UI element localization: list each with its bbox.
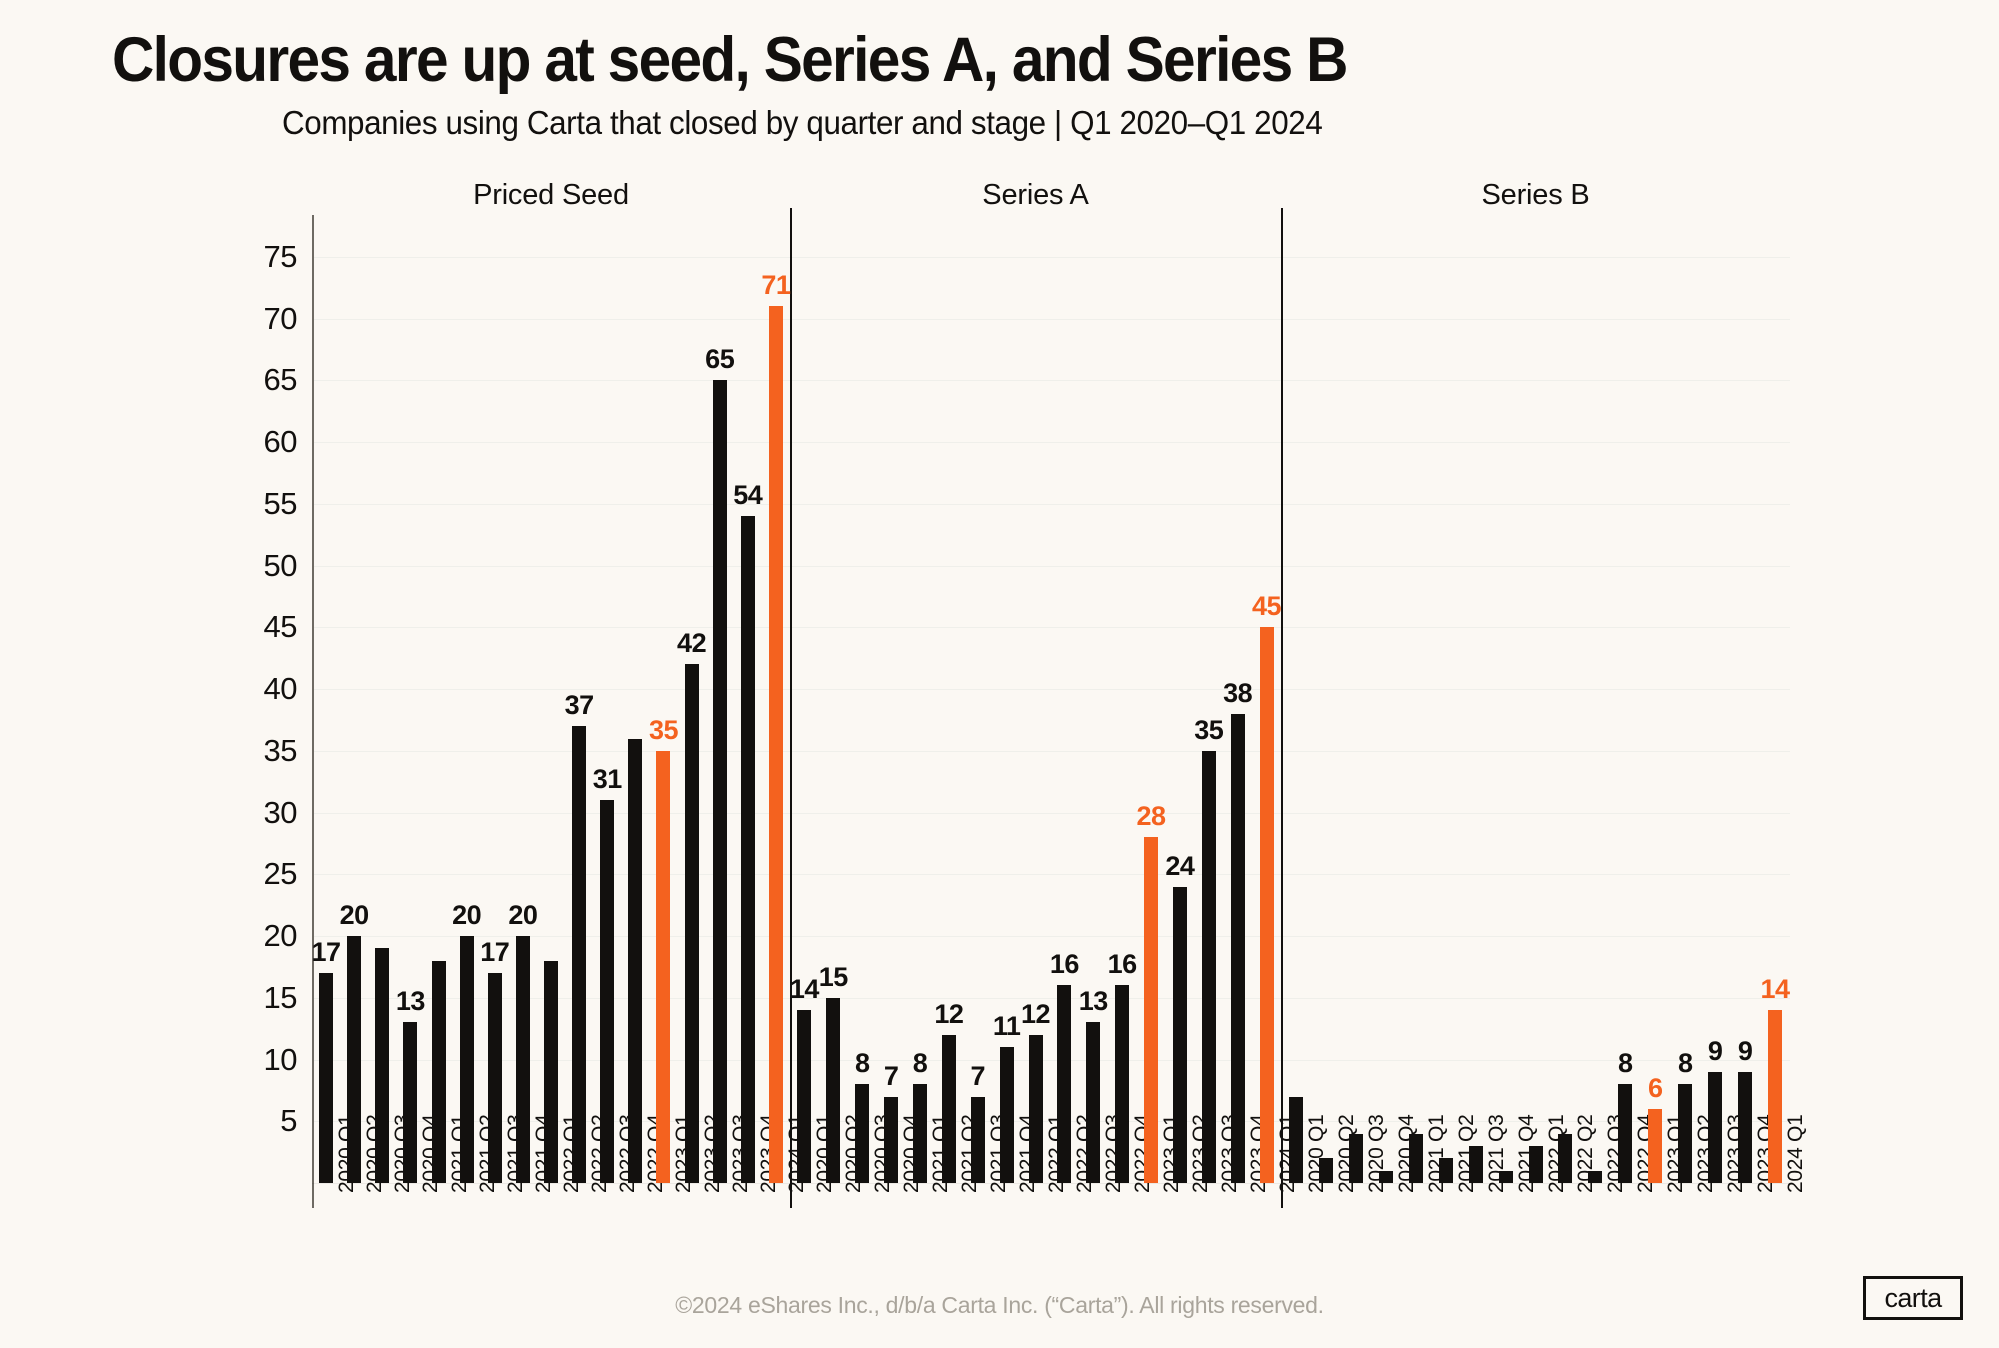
bar <box>628 739 642 1183</box>
bar <box>1409 1134 1423 1183</box>
bar <box>1144 837 1158 1183</box>
bar <box>769 306 783 1183</box>
bar-value-label: 12 <box>934 999 963 1030</box>
bar-value-label: 35 <box>649 715 678 746</box>
bar <box>884 1097 898 1183</box>
bar-value-label: 8 <box>913 1048 928 1079</box>
bar <box>1029 1035 1043 1183</box>
bar <box>741 516 755 1183</box>
bar-value-label: 11 <box>993 1011 1021 1042</box>
bar <box>913 1084 927 1183</box>
bar-value-label: 7 <box>970 1061 985 1092</box>
bar <box>460 936 474 1183</box>
bar-value-label: 28 <box>1136 801 1165 832</box>
bar-value-label: 20 <box>452 900 481 931</box>
bar <box>1260 627 1274 1183</box>
bar-value-label: 31 <box>593 764 622 795</box>
bar <box>375 948 389 1183</box>
bar <box>432 961 446 1183</box>
bar <box>1173 887 1187 1183</box>
bar <box>1618 1084 1632 1183</box>
bar-value-label: 20 <box>340 900 369 931</box>
bar <box>971 1097 985 1183</box>
bar <box>1319 1158 1333 1183</box>
bar-value-label: 54 <box>733 480 762 511</box>
bar <box>1289 1097 1303 1183</box>
bar <box>516 936 530 1183</box>
bar-value-label: 24 <box>1165 851 1194 882</box>
bar-value-label: 16 <box>1108 949 1137 980</box>
bar <box>1202 751 1216 1183</box>
bar-value-label: 9 <box>1708 1036 1723 1067</box>
bar <box>656 751 670 1183</box>
bar <box>1379 1171 1393 1183</box>
bar-value-label: 14 <box>790 974 819 1005</box>
bar <box>855 1084 869 1183</box>
bar-value-label: 45 <box>1252 591 1281 622</box>
bar <box>1439 1158 1453 1183</box>
bar <box>713 380 727 1183</box>
bars-layer: 172020 Q1202020 Q22020 Q3132020 Q42021 Q… <box>0 0 1999 1348</box>
bar-value-label: 7 <box>884 1061 899 1092</box>
bar-value-label: 37 <box>565 690 594 721</box>
bar <box>600 800 614 1183</box>
bar <box>826 998 840 1183</box>
bar <box>544 961 558 1183</box>
bar <box>1000 1047 1014 1183</box>
bar <box>1115 985 1129 1183</box>
bar-value-label: 35 <box>1194 715 1223 746</box>
bar-value-label: 42 <box>677 628 706 659</box>
bar <box>403 1022 417 1183</box>
bar-value-label: 8 <box>855 1048 870 1079</box>
bar <box>797 1010 811 1183</box>
bar-value-label: 6 <box>1648 1073 1663 1104</box>
bar <box>1086 1022 1100 1183</box>
bar <box>1499 1171 1513 1183</box>
bar-value-label: 9 <box>1738 1036 1753 1067</box>
bar <box>1648 1109 1662 1183</box>
bar-value-label: 12 <box>1021 999 1050 1030</box>
bar-value-label: 65 <box>705 344 734 375</box>
bar <box>1057 985 1071 1183</box>
bar <box>1768 1010 1782 1183</box>
bar <box>319 973 333 1183</box>
bar-value-label: 71 <box>761 270 790 301</box>
bar <box>488 973 502 1183</box>
bar-value-label: 17 <box>312 937 341 968</box>
bar <box>1588 1171 1602 1183</box>
bar <box>1529 1146 1543 1183</box>
bar <box>1708 1072 1722 1183</box>
bar-value-label: 38 <box>1223 678 1252 709</box>
bar-value-label: 13 <box>1079 986 1108 1017</box>
bar-value-label: 13 <box>396 986 425 1017</box>
bar <box>942 1035 956 1183</box>
bar <box>1469 1146 1483 1183</box>
bar-value-label: 8 <box>1618 1048 1633 1079</box>
bar <box>1349 1134 1363 1183</box>
bar-value-label: 20 <box>508 900 537 931</box>
bar-value-label: 8 <box>1678 1048 1693 1079</box>
bar <box>1231 714 1245 1183</box>
bar-value-label: 17 <box>480 937 509 968</box>
bar <box>685 664 699 1183</box>
bar <box>572 726 586 1183</box>
copyright-note: ©2024 eShares Inc., d/b/a Carta Inc. (“C… <box>0 1292 1999 1319</box>
bar <box>1678 1084 1692 1183</box>
bar <box>1738 1072 1752 1183</box>
bar-value-label: 16 <box>1050 949 1079 980</box>
carta-logo: carta <box>1863 1276 1963 1320</box>
x-axis-tick-label: 2024 Q1 <box>1784 1115 1808 1193</box>
bar-value-label: 15 <box>819 962 848 993</box>
bar-value-label: 14 <box>1760 974 1789 1005</box>
bar <box>347 936 361 1183</box>
bar <box>1558 1134 1572 1183</box>
